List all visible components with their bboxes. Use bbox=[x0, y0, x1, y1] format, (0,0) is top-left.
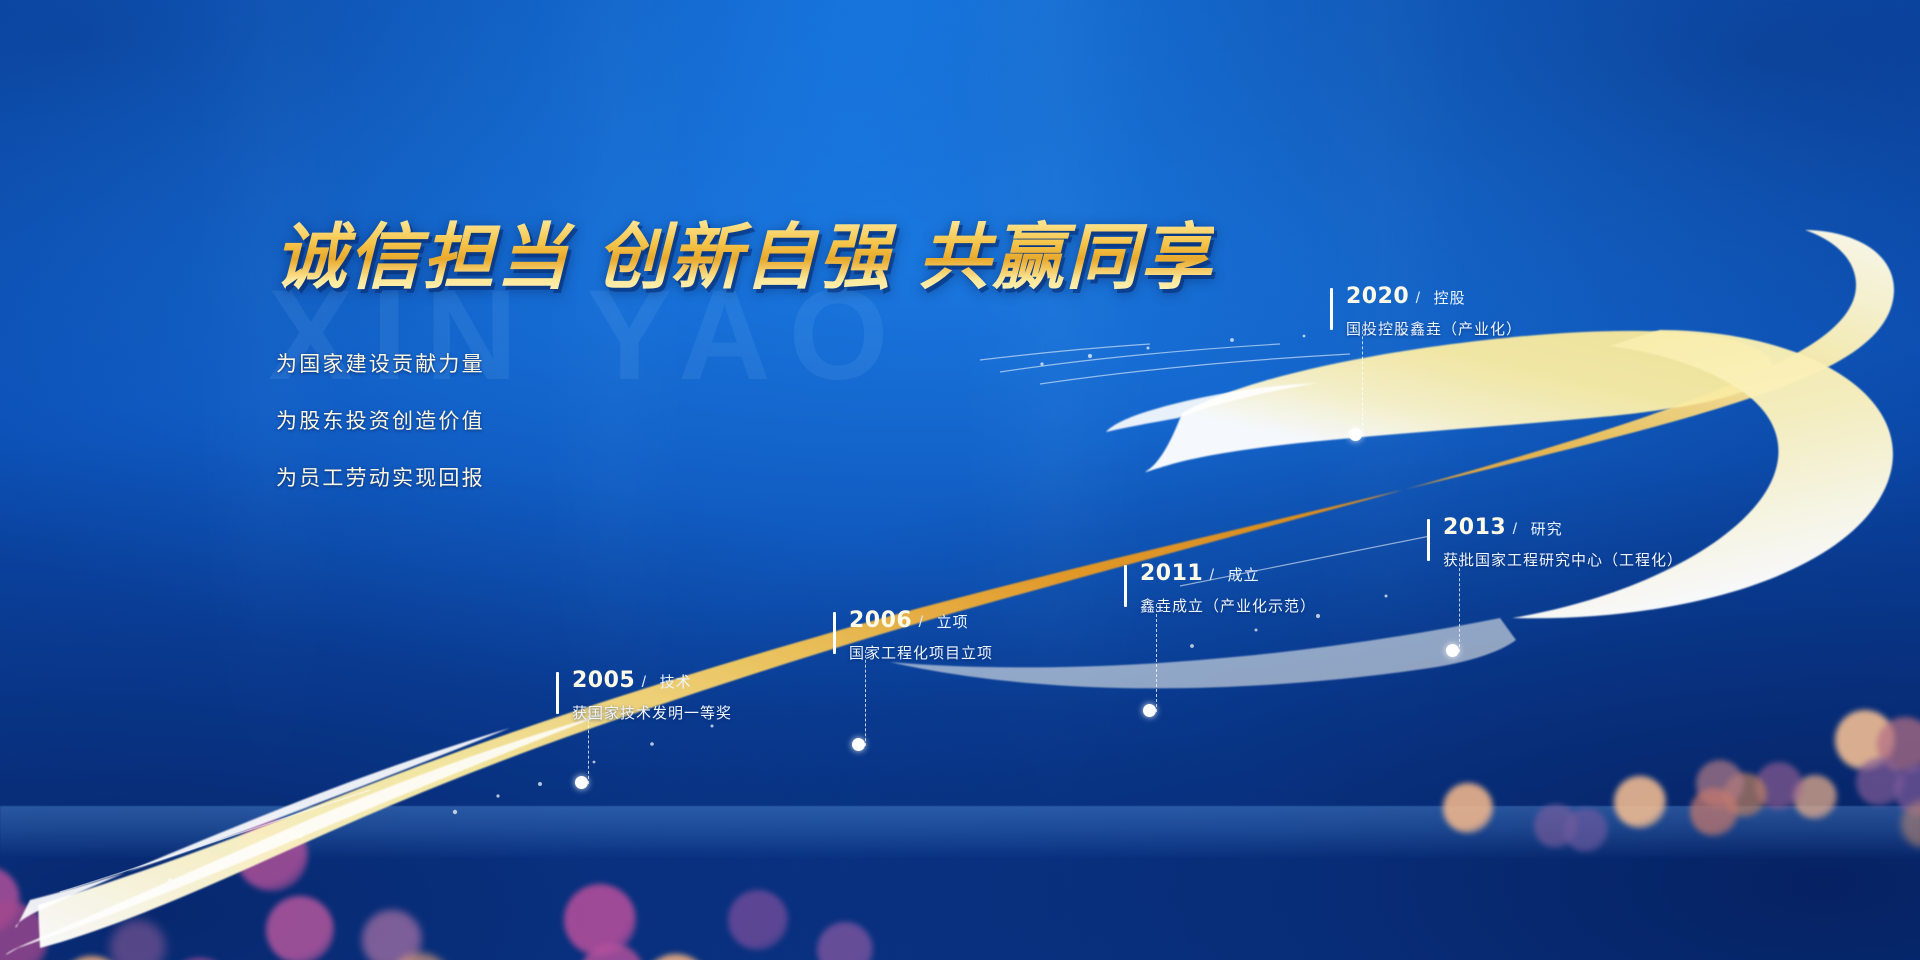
timeline-accent-bar bbox=[1330, 288, 1333, 330]
timeline-heading: 2005 / 技术 bbox=[572, 668, 732, 693]
timeline-description: 国投控股鑫垚（产业化） bbox=[1346, 318, 1522, 339]
timeline-label-group: 2011 / 成立鑫垚成立（产业化示范） bbox=[1140, 561, 1316, 616]
timeline-description: 获批国家工程研究中心（工程化） bbox=[1443, 549, 1683, 570]
timeline-separator: / bbox=[1205, 567, 1218, 584]
timeline-year: 2011 bbox=[1140, 561, 1203, 586]
timeline-separator: / bbox=[1508, 521, 1521, 538]
timeline-description: 获国家技术发明一等奖 bbox=[572, 702, 732, 723]
timeline-connector-line bbox=[1362, 326, 1363, 436]
timeline-tag: 立项 bbox=[937, 613, 969, 631]
timeline-description: 鑫垚成立（产业化示范） bbox=[1140, 595, 1316, 616]
timeline-heading: 2013 / 研究 bbox=[1443, 515, 1683, 540]
timeline-label-group: 2005 / 技术获国家技术发明一等奖 bbox=[572, 668, 732, 723]
timeline-tag: 成立 bbox=[1228, 566, 1260, 584]
timeline-accent-bar bbox=[1124, 565, 1127, 607]
timeline-heading: 2020 / 控股 bbox=[1346, 284, 1522, 309]
timeline-accent-bar bbox=[1427, 519, 1430, 561]
timeline-label-group: 2013 / 研究获批国家工程研究中心（工程化） bbox=[1443, 515, 1683, 570]
timeline-tag: 控股 bbox=[1434, 289, 1466, 307]
timeline-label-group: 2006 / 立项国家工程化项目立项 bbox=[849, 608, 993, 663]
timeline-node-dot[interactable] bbox=[1349, 428, 1362, 441]
timeline-year: 2013 bbox=[1443, 515, 1506, 540]
timeline-label-group: 2020 / 控股国投控股鑫垚（产业化） bbox=[1346, 284, 1522, 339]
timeline-accent-bar bbox=[833, 612, 836, 654]
timeline-connector-line bbox=[1156, 604, 1157, 712]
timeline-year: 2006 bbox=[849, 608, 912, 633]
timeline-separator: / bbox=[914, 614, 927, 631]
timeline-node-dot[interactable] bbox=[1143, 704, 1156, 717]
timeline-heading: 2011 / 成立 bbox=[1140, 561, 1316, 586]
timeline-connector-line bbox=[1459, 558, 1460, 652]
timeline-tag: 研究 bbox=[1531, 520, 1563, 538]
banner-canvas: XIN YAO bbox=[0, 0, 1920, 960]
timeline-accent-bar bbox=[556, 672, 559, 714]
timeline-heading: 2006 / 立项 bbox=[849, 608, 993, 633]
timeline-tag: 技术 bbox=[660, 673, 692, 691]
timeline-separator: / bbox=[1411, 290, 1424, 307]
timeline-year: 2005 bbox=[572, 668, 635, 693]
timeline: 2005 / 技术获国家技术发明一等奖2006 / 立项国家工程化项目立项201… bbox=[0, 0, 1920, 960]
timeline-year: 2020 bbox=[1346, 284, 1409, 309]
timeline-node-dot[interactable] bbox=[852, 738, 865, 751]
timeline-node-dot[interactable] bbox=[1446, 644, 1459, 657]
timeline-node-dot[interactable] bbox=[575, 776, 588, 789]
timeline-connector-line bbox=[865, 650, 866, 746]
timeline-separator: / bbox=[637, 674, 650, 691]
timeline-description: 国家工程化项目立项 bbox=[849, 642, 993, 663]
